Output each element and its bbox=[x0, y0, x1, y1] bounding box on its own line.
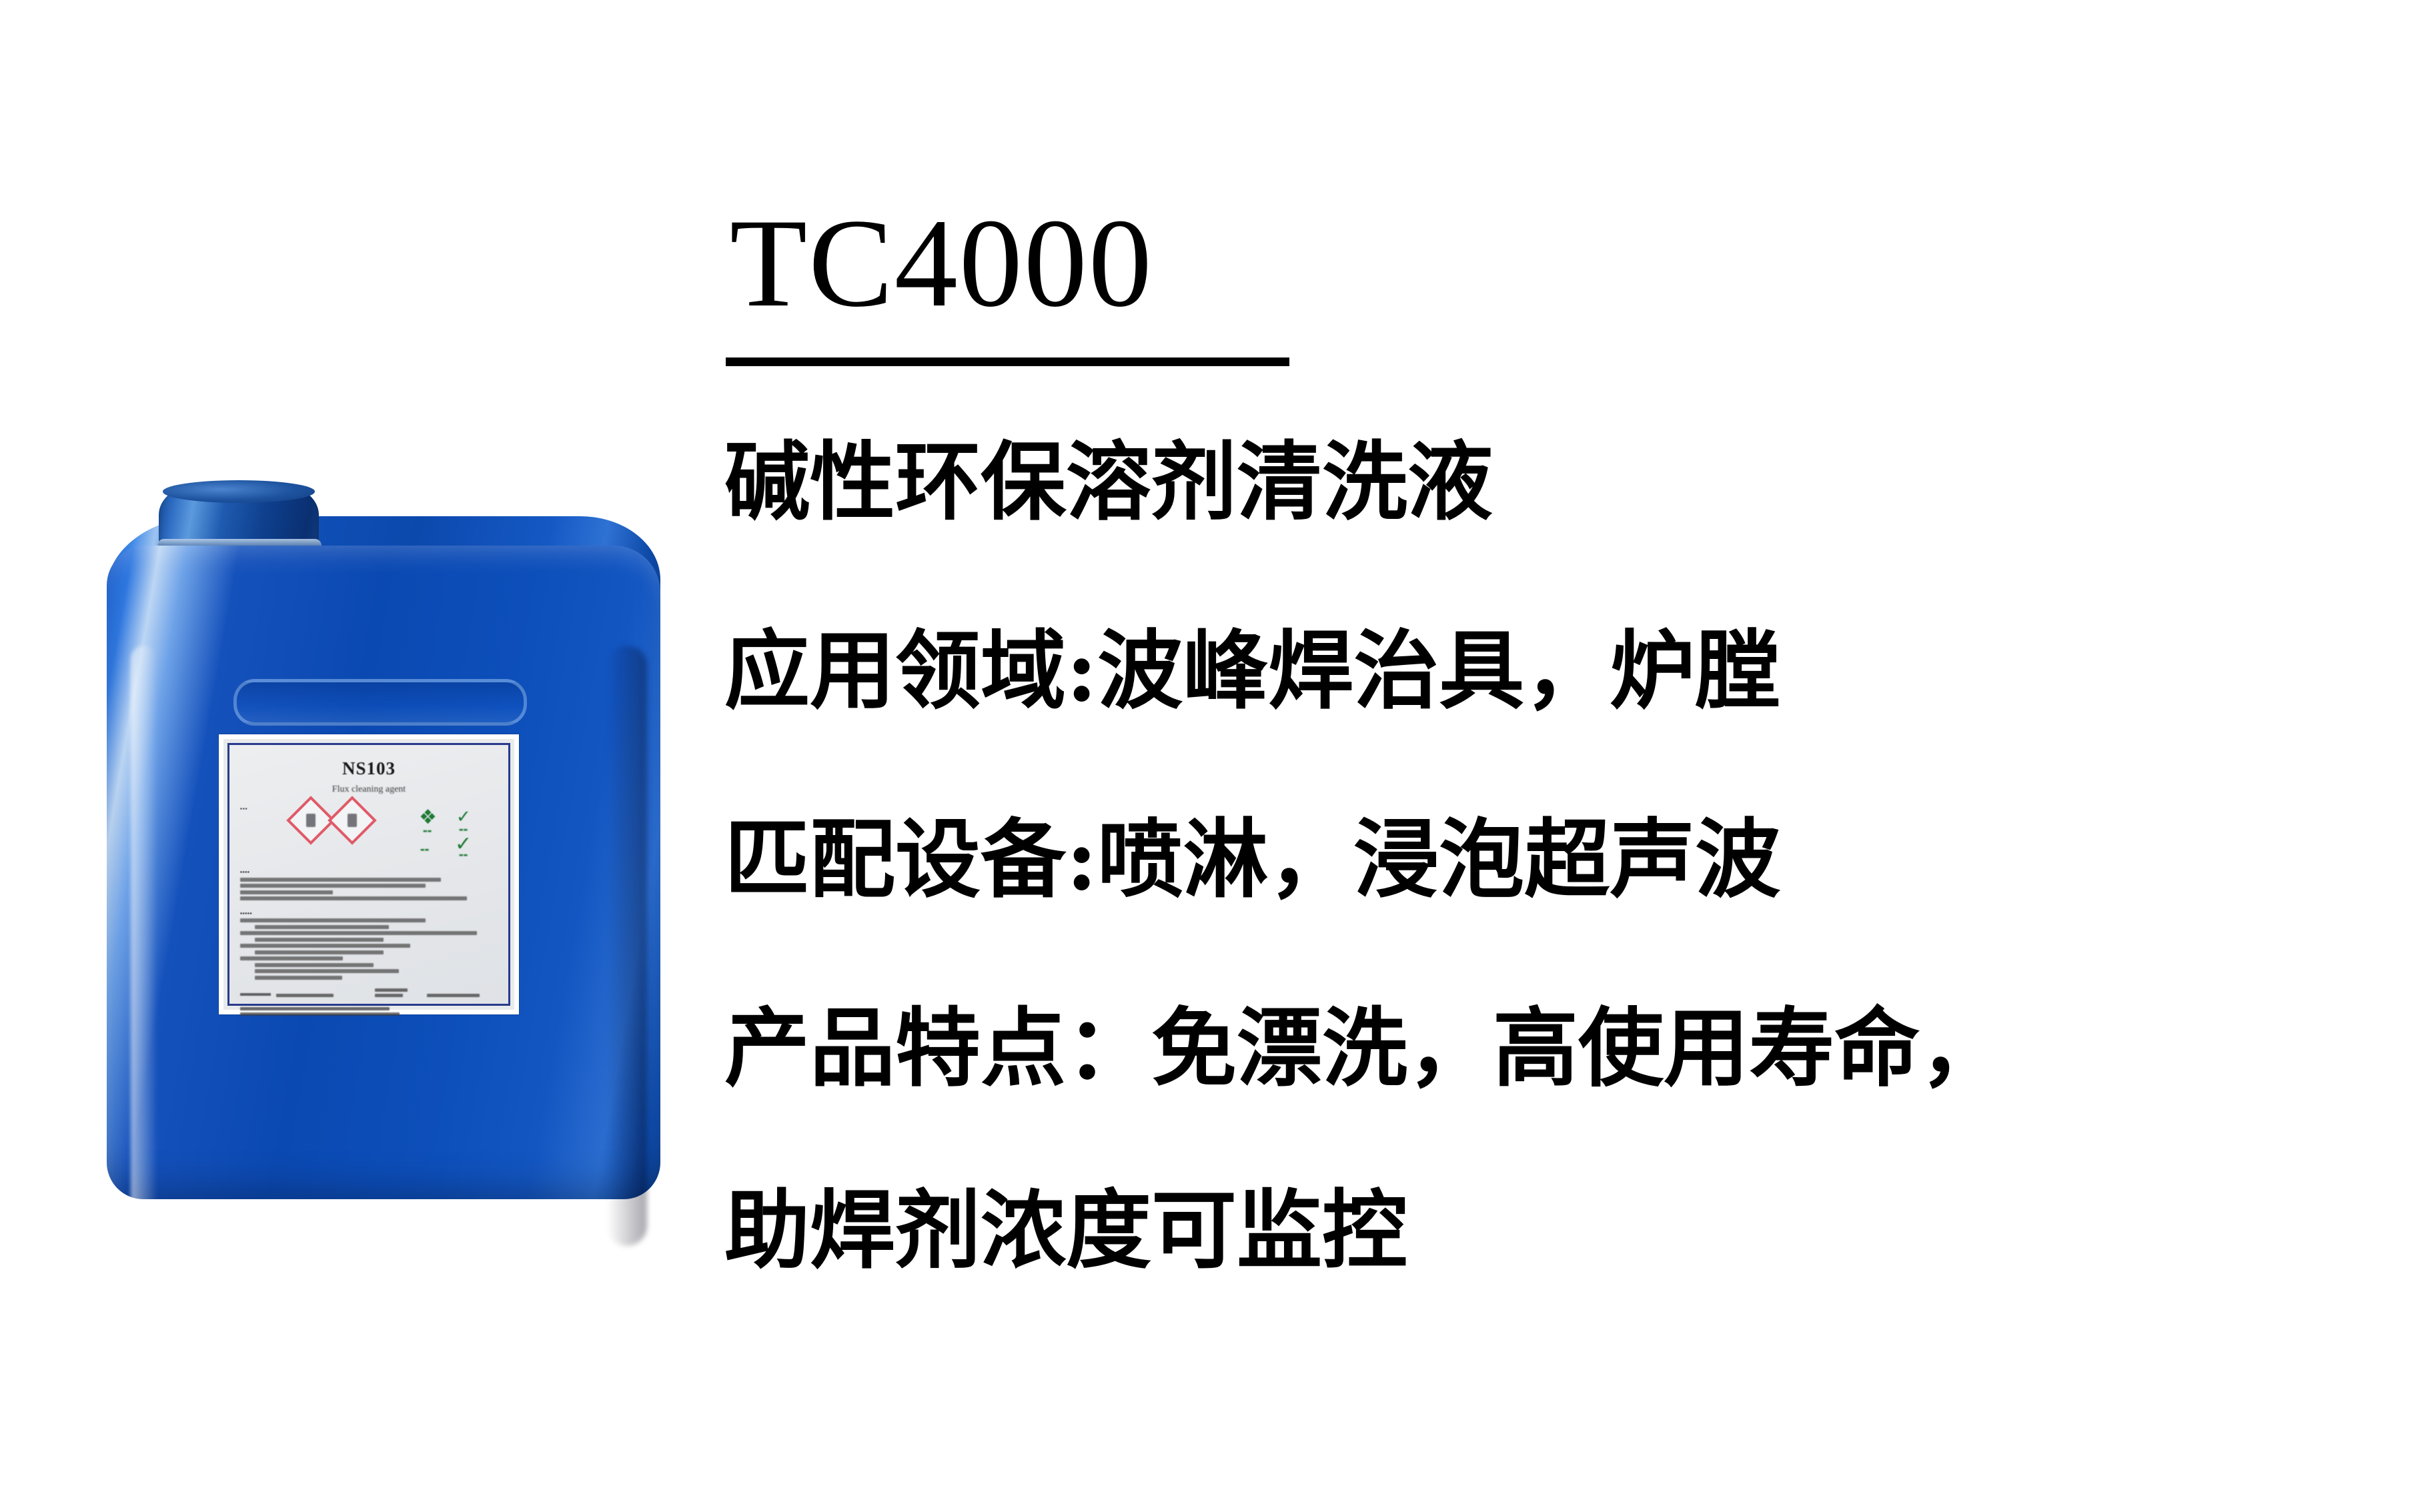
description-line-4: 产品特点：免漂洗，高使用寿命， bbox=[724, 1006, 2379, 1091]
check-icon: ✓ bbox=[456, 807, 471, 827]
description-line-2: 应用领域:波峰焊治具，炉膛 bbox=[724, 628, 2379, 714]
label-hazard-caption: ▪▪▪ bbox=[240, 806, 292, 859]
label-pictogram-row: ▪▪▪ ❖ ✓ ✓ ▬▬ ▬▬ ▬▬ ▬▬ bbox=[240, 806, 498, 859]
description-line-5: 助焊剂浓度可监控 bbox=[724, 1188, 2379, 1273]
title-underline bbox=[726, 357, 1289, 366]
product-label-inner: NS103 Flux cleaning agent ▪▪▪ ❖ ✓ ✓ ▬▬ bbox=[227, 743, 510, 1006]
ghs-exclamation-icon bbox=[328, 796, 377, 845]
jerrycan-shadow bbox=[607, 646, 647, 1246]
product-text-column: TC4000 碱性环保溶剂清洗液 应用领域:波峰焊治具，炉膛 匹配设备:喷淋，浸… bbox=[724, 200, 2379, 1273]
product-label: NS103 Flux cleaning agent ▪▪▪ ❖ ✓ ✓ ▬▬ bbox=[219, 734, 519, 1014]
jerrycan-cap-top bbox=[163, 480, 315, 503]
jerrycan-body: NS103 Flux cleaning agent ▪▪▪ ❖ ✓ ✓ ▬▬ bbox=[107, 546, 660, 1199]
label-body-text: ▪▪▪▪ ▪▪▪▪▪ bbox=[240, 868, 498, 1016]
label-product-subtitle: Flux cleaning agent bbox=[240, 784, 498, 795]
jerrycan-grip bbox=[233, 679, 527, 726]
description-line-3: 匹配设备:喷淋，浸泡超声波 bbox=[724, 817, 2379, 902]
label-manufacturer bbox=[240, 1007, 498, 1016]
jerrycan-highlight bbox=[131, 646, 157, 1233]
label-footer bbox=[240, 986, 498, 999]
leaf-icon: ❖ bbox=[419, 806, 437, 829]
eco-mark-group: ❖ ✓ ✓ ▬▬ ▬▬ ▬▬ ▬▬ bbox=[418, 806, 498, 859]
ghs-pictogram-group bbox=[293, 803, 370, 859]
product-photo: NS103 Flux cleaning agent ▪▪▪ ❖ ✓ ✓ ▬▬ bbox=[93, 460, 680, 1207]
description-line-1: 碱性环保溶剂清洗液 bbox=[724, 440, 2379, 525]
label-product-code: NS103 bbox=[240, 758, 498, 779]
page-title: TC4000 bbox=[724, 200, 2379, 333]
